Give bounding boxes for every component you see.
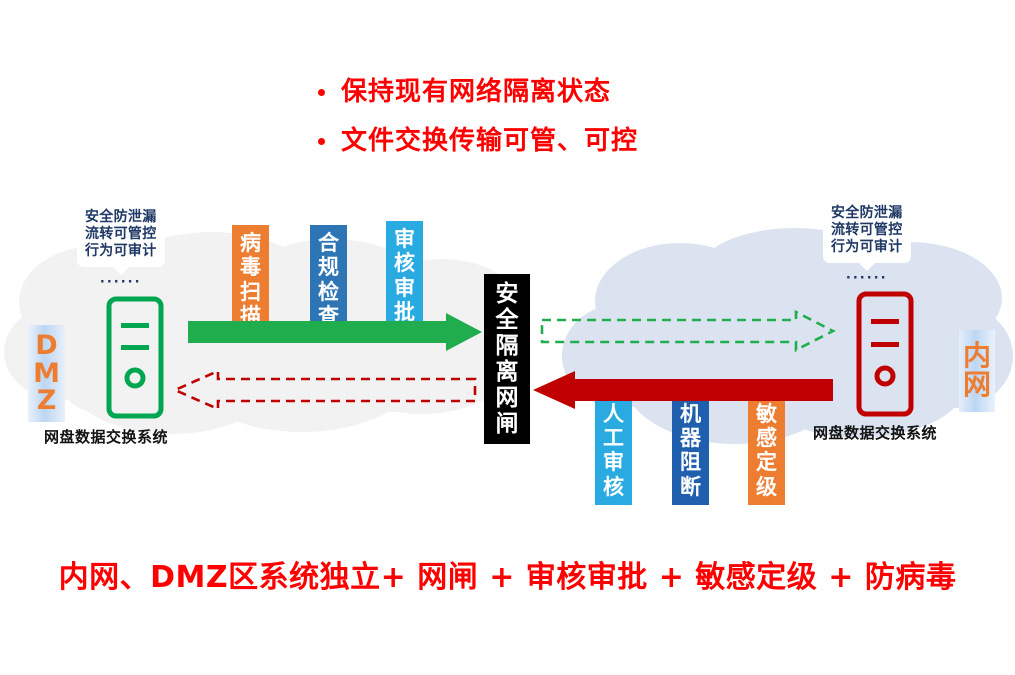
server-caption-dmz: 网盘数据交换系统 bbox=[44, 426, 168, 447]
zone-label-intranet: 内 网 bbox=[959, 330, 995, 412]
gate-char: 离 bbox=[496, 359, 519, 385]
gate-char: 隔 bbox=[496, 333, 519, 359]
zone-char: 内 bbox=[963, 342, 991, 371]
label-char: 定 bbox=[756, 450, 777, 474]
gate-char: 闸 bbox=[496, 411, 519, 437]
callout-tail-icon bbox=[112, 266, 130, 275]
label-char: 规 bbox=[318, 255, 339, 279]
bullet-text: 保持现有网络隔离状态 bbox=[341, 79, 611, 105]
callout-line: 行为可审计 bbox=[831, 239, 903, 256]
process-label-manual-review[interactable]: 人 工 审 核 bbox=[595, 396, 632, 505]
server-caption-intranet: 网盘数据交换系统 bbox=[813, 422, 937, 443]
bullet-text: 文件交换传输可管、可控 bbox=[341, 128, 638, 154]
label-char: 毒 bbox=[240, 255, 261, 279]
bullet-dot-icon bbox=[318, 89, 325, 96]
gate-char: 网 bbox=[496, 385, 519, 411]
bullet-dot-icon bbox=[318, 138, 325, 145]
callout-line: 安全防泄漏 bbox=[85, 209, 157, 226]
label-char: 级 bbox=[756, 475, 777, 499]
callout-line: 流转可管控 bbox=[85, 226, 157, 243]
callout-dmz: 安全防泄漏 流转可管控 行为可审计 ······ bbox=[77, 204, 165, 289]
label-char: 核 bbox=[603, 475, 624, 499]
label-char: 器 bbox=[680, 426, 701, 450]
label-char: 核 bbox=[394, 251, 415, 275]
bullet-list: 保持现有网络隔离状态 文件交换传输可管、可控 bbox=[318, 76, 918, 174]
gate-char: 全 bbox=[496, 307, 519, 333]
callout-box: 安全防泄漏 流转可管控 行为可审计 bbox=[823, 200, 911, 263]
zone-label-dmz: D M Z bbox=[28, 325, 65, 422]
zone-char: Z bbox=[37, 387, 57, 415]
zone-char: M bbox=[33, 360, 60, 388]
bullet-item: 文件交换传输可管、可控 bbox=[318, 125, 918, 157]
arrow-outbound-green bbox=[188, 313, 483, 353]
label-char: 扫 bbox=[240, 280, 261, 304]
callout-tail-icon bbox=[858, 262, 876, 271]
callout-line: 行为可审计 bbox=[85, 243, 157, 260]
label-char: 阻 bbox=[680, 450, 701, 474]
diagram-canvas: 保持现有网络隔离状态 文件交换传输可管、可控 D M Z 内 网 网盘数据交换系… bbox=[0, 0, 1015, 675]
callout-dots: ······ bbox=[823, 272, 911, 285]
security-gateway-box[interactable]: 安 全 隔 离 网 闸 bbox=[484, 274, 530, 444]
label-char: 感 bbox=[756, 426, 777, 450]
bullet-item: 保持现有网络隔离状态 bbox=[318, 76, 918, 108]
callout-intranet: 安全防泄漏 流转可管控 行为可审计 ······ bbox=[823, 200, 911, 285]
label-char: 检 bbox=[318, 280, 339, 304]
arrow-outbound-green-dashed bbox=[540, 310, 836, 352]
summary-caption: 内网、DMZ区系统独立+ 网闸 + 审核审批 + 敏感定级 + 防病毒 bbox=[0, 552, 1015, 596]
zone-char: D bbox=[35, 332, 57, 360]
callout-line: 流转可管控 bbox=[831, 222, 903, 239]
label-char: 审 bbox=[394, 276, 415, 300]
callout-line: 安全防泄漏 bbox=[831, 205, 903, 222]
server-icon-dmz bbox=[105, 295, 165, 420]
callout-dots: ······ bbox=[77, 276, 165, 289]
gate-char: 安 bbox=[496, 281, 519, 307]
server-icon-intranet bbox=[855, 290, 915, 418]
label-char: 工 bbox=[603, 426, 624, 450]
arrow-inbound-red bbox=[533, 371, 833, 411]
label-char: 审 bbox=[603, 450, 624, 474]
label-char: 病 bbox=[240, 231, 261, 255]
callout-box: 安全防泄漏 流转可管控 行为可审计 bbox=[77, 204, 165, 267]
label-char: 审 bbox=[394, 227, 415, 251]
label-char: 合 bbox=[318, 231, 339, 255]
zone-char: 网 bbox=[963, 371, 991, 400]
label-char: 断 bbox=[680, 475, 701, 499]
arrow-inbound-red-dashed bbox=[172, 369, 477, 411]
